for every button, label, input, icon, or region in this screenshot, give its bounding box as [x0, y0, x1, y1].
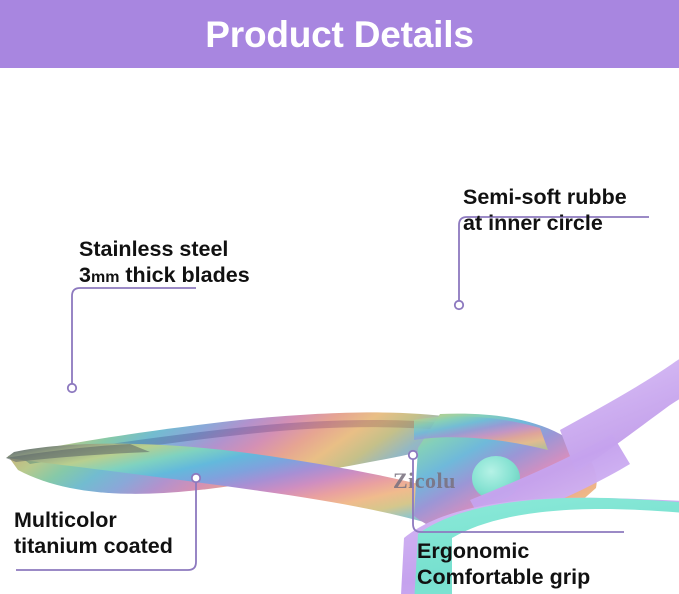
blade-thickness-value: 3: [79, 263, 91, 287]
callout-multicolor-titanium-line2: titanium coated: [14, 533, 173, 559]
callout-ergonomic-grip: Ergonomic Comfortable grip: [417, 538, 590, 590]
callout-stainless-steel-line1: Stainless steel: [79, 236, 250, 262]
callout-semi-soft-rubber-line2: at inner circle: [463, 210, 627, 236]
callout-multicolor-titanium: Multicolor titanium coated: [14, 507, 173, 559]
callout-ergonomic-grip-line1: Ergonomic: [417, 538, 590, 564]
callout-ergonomic-grip-line2: Comfortable grip: [417, 564, 590, 590]
blade-thickness-unit: mm: [91, 269, 119, 286]
callout-multicolor-titanium-line1: Multicolor: [14, 507, 173, 533]
callout-semi-soft-rubber: Semi-soft rubbe at inner circle: [463, 184, 627, 236]
callout-stainless-steel-line2: 3mm thick blades: [79, 262, 250, 288]
page-title: Product Details: [205, 16, 473, 53]
leader-stainless-steel: [68, 288, 196, 392]
callout-stainless-steel: Stainless steel 3mm thick blades: [79, 236, 250, 288]
header-band: Product Details: [0, 0, 679, 68]
blade-thickness-suffix: thick blades: [119, 263, 249, 287]
brand-mark: Zicolu: [393, 468, 456, 493]
callout-semi-soft-rubber-line1: Semi-soft rubbe: [463, 184, 627, 210]
